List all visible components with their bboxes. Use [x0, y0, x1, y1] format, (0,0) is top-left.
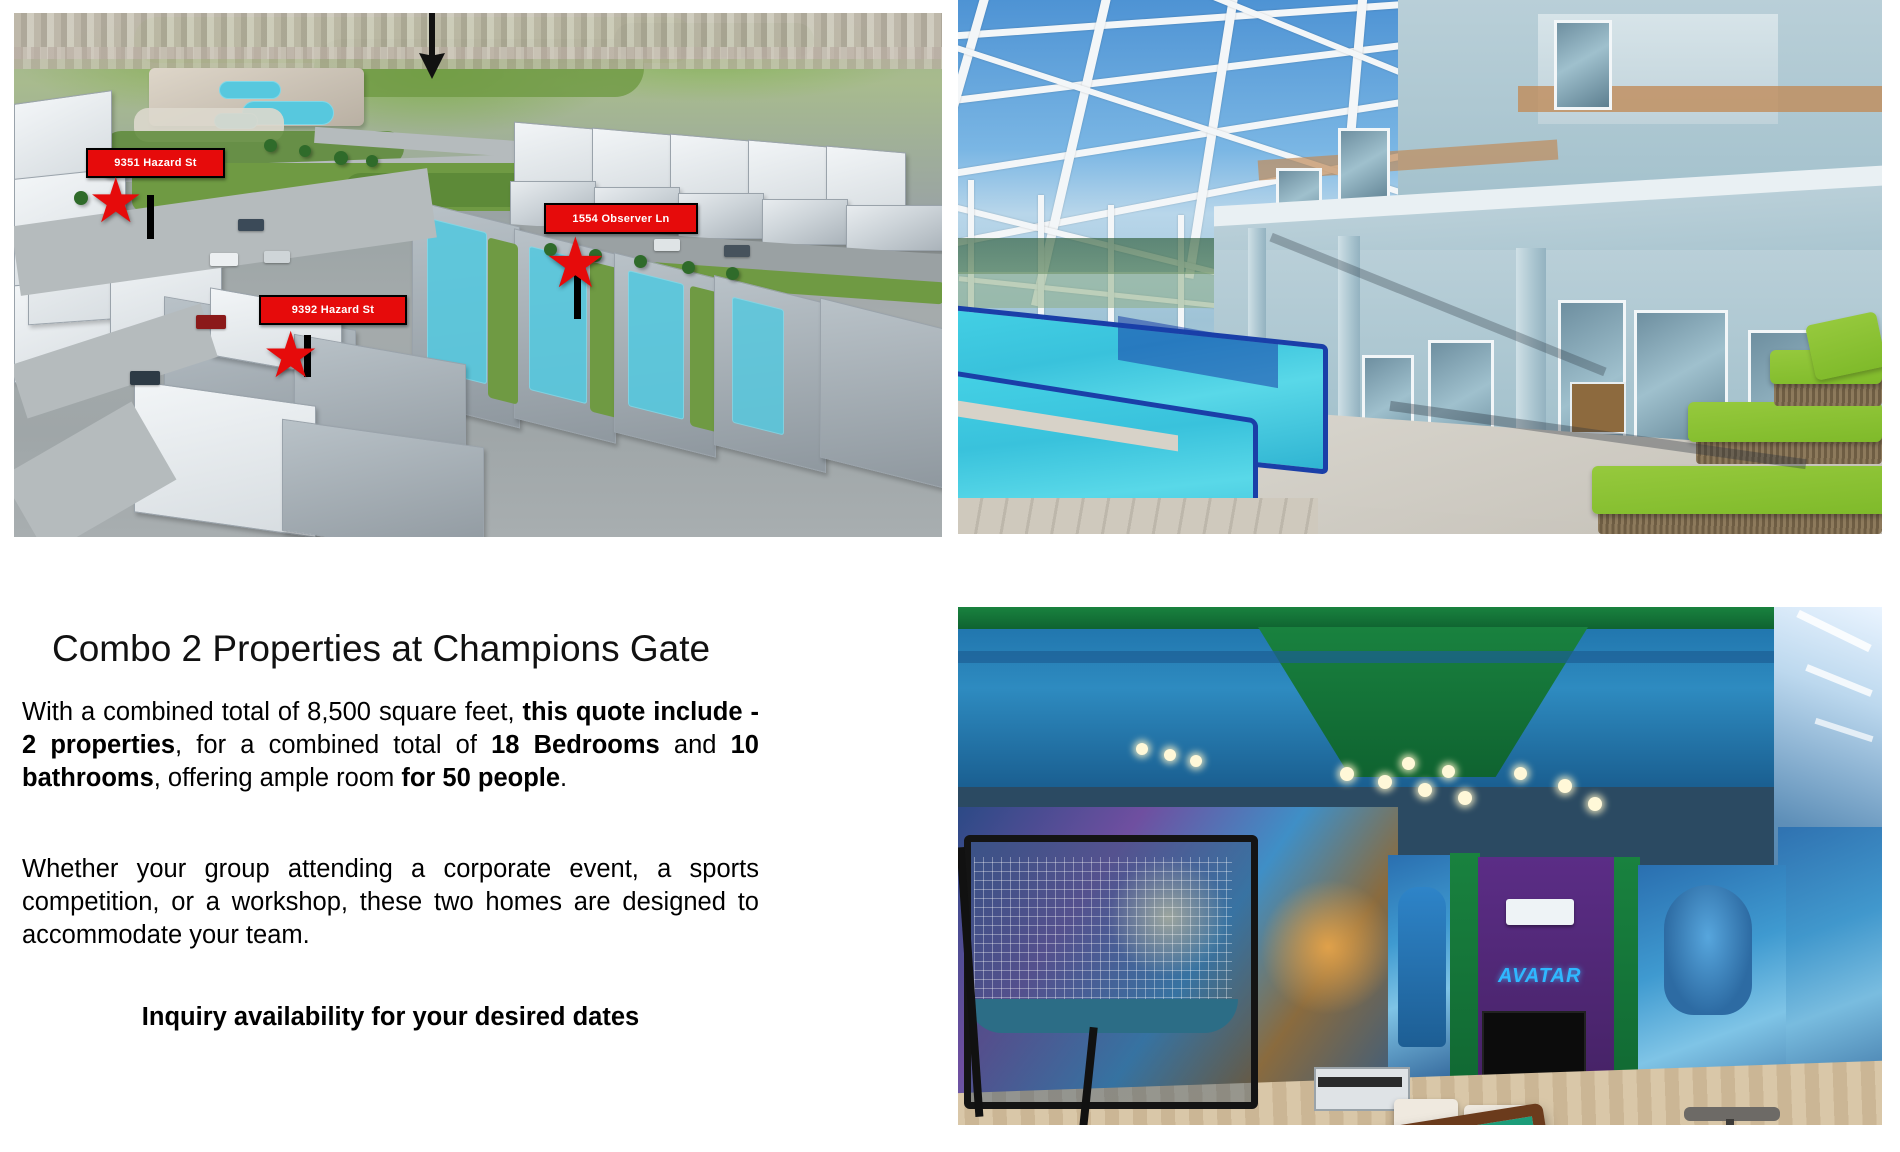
tree [299, 145, 311, 157]
upper-window [1554, 20, 1612, 110]
house-roof [820, 298, 942, 489]
recessed-light [1418, 783, 1432, 797]
paver-coping [958, 498, 1318, 534]
body-text: . [560, 764, 567, 792]
car [210, 253, 238, 266]
yard-grass [488, 237, 518, 404]
recessed-light [1164, 749, 1176, 761]
distant-lawn [958, 272, 1258, 308]
distant-rooftops [14, 47, 942, 69]
ceiling-green-trim [958, 607, 1882, 629]
body-text: and [660, 731, 731, 759]
car [130, 371, 160, 385]
tree [334, 151, 348, 165]
highlight-text: for 50 people [401, 764, 560, 792]
recessed-light [1514, 767, 1527, 780]
location-star-marker: ★ [88, 171, 144, 233]
house-roof [762, 199, 848, 245]
car [264, 251, 290, 263]
recessed-light [1190, 755, 1202, 767]
car [724, 245, 750, 257]
foosball-top [1318, 1077, 1402, 1087]
recessed-light [1442, 765, 1455, 778]
tree [634, 255, 647, 268]
body-text: , offering ample room [154, 764, 402, 792]
tree [726, 267, 739, 280]
recessed-light [1558, 779, 1572, 793]
page-title: Combo 2 Properties at Champions Gate [52, 628, 710, 670]
car [238, 219, 264, 231]
recessed-light [1588, 797, 1602, 811]
body-text: , for a combined total of [175, 731, 491, 759]
bar-table-post [1726, 1119, 1734, 1125]
black-down-arrow-icon [412, 13, 452, 86]
avatar-figure [1398, 887, 1446, 1047]
screened-pool [732, 297, 784, 436]
distant-treeline [958, 238, 1258, 274]
green-lounger-cushion [1688, 402, 1882, 442]
tree [264, 139, 277, 152]
resort-pool [219, 81, 281, 99]
recessed-light [1402, 757, 1415, 770]
recessed-light [1340, 767, 1354, 781]
arcade-net [974, 857, 1232, 1007]
tree [74, 191, 88, 205]
avatar-sign: AVATAR [1498, 965, 1581, 988]
inquiry-call-to-action: Inquiry availability for your desired da… [22, 1001, 759, 1034]
callout-label: 9392 Hazard St [292, 304, 374, 316]
listing-description-paragraph-1: With a combined total of 8,500 square fe… [22, 696, 759, 795]
avatar-face [1664, 885, 1752, 1015]
body-text: With a combined total of 8,500 square fe… [22, 698, 523, 726]
ac-unit [1506, 899, 1574, 925]
arcade-ramp [968, 999, 1238, 1033]
listing-text-panel: Combo 2 Properties at Champions Gate Wit… [0, 560, 950, 1152]
car [654, 239, 680, 251]
recessed-light [1458, 791, 1472, 805]
house-roof [846, 205, 942, 251]
ceiling-band [958, 651, 1882, 663]
green-lounger-cushion [1592, 466, 1882, 514]
location-star-marker: ★ [544, 228, 607, 298]
callout-label: 1554 Observer Ln [572, 213, 669, 225]
aerial-community-photo: 9351 Hazard St ★ 1554 Observer Ln ★ 9392… [14, 13, 942, 537]
recessed-light [1378, 775, 1392, 789]
pool-patio-photo [958, 0, 1882, 534]
mural-glow [1258, 877, 1398, 1017]
car [196, 315, 226, 329]
tree [682, 261, 695, 274]
tree [366, 155, 378, 167]
location-star-marker: ★ [262, 323, 319, 387]
listing-description-paragraph-2: Whether your group attending a corporate… [22, 853, 759, 952]
callout-stem-1 [147, 195, 154, 239]
screened-pool [628, 270, 684, 420]
highlight-text: 18 Bedrooms [491, 731, 660, 759]
wall-art [1570, 382, 1626, 434]
game-room-photo: AVATAR [958, 607, 1882, 1125]
recessed-light [1136, 743, 1148, 755]
